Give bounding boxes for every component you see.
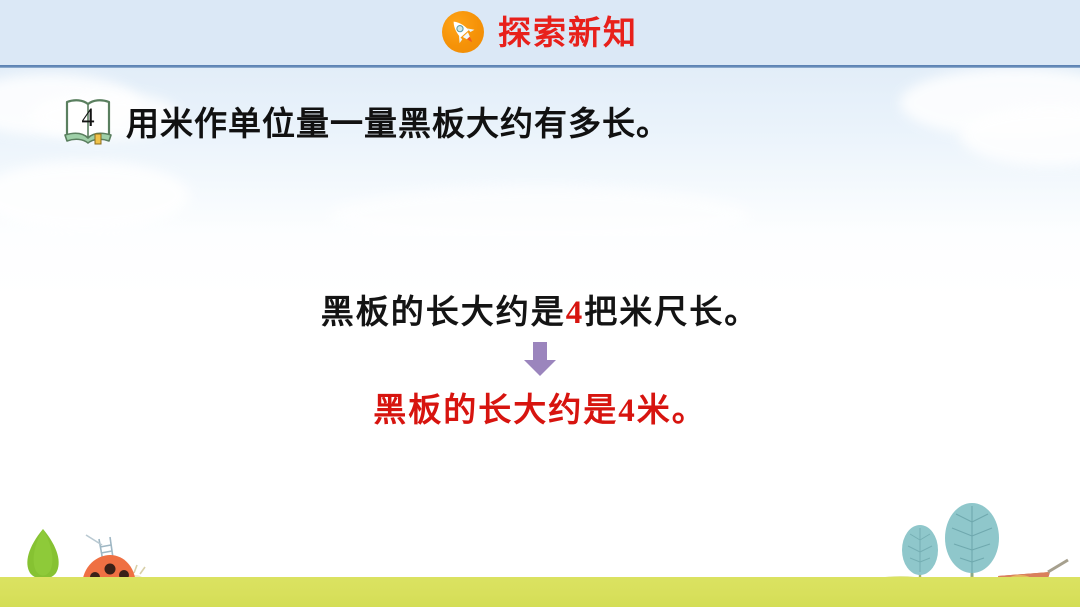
open-book-icon: 4 <box>62 96 114 146</box>
statement-line-2: 黑板的长大约是4米。 <box>0 383 1080 431</box>
arrow-container <box>0 339 1080 379</box>
question-row: 4 用米作单位量一量黑板大约有多长。 <box>62 96 670 146</box>
arrow-down-icon <box>520 340 560 378</box>
rocket-icon <box>442 11 484 53</box>
ground-strip <box>0 577 1080 607</box>
header-bar: 探索新知 <box>0 0 1080 67</box>
cloud-center <box>330 186 750 236</box>
cloud-left-3 <box>0 161 190 231</box>
slide-canvas: 探索新知 4 用米作单位量一量黑板大约有多长。 黑板的长大约是4把米尺长。 黑板… <box>0 0 1080 607</box>
question-number: 4 <box>62 98 114 138</box>
statement-line-1: 黑板的长大约是4把米尺长。 <box>0 285 1080 333</box>
statement-1-prefix: 黑板的长大约是 <box>321 295 566 331</box>
cloud-right-1 <box>900 68 1080 138</box>
cloud-layer <box>0 66 1080 236</box>
cloud-right-2 <box>960 106 1080 166</box>
header-content: 探索新知 <box>0 6 1080 58</box>
statement-block: 黑板的长大约是4把米尺长。 黑板的长大约是4米。 <box>0 285 1080 431</box>
page-title: 探索新知 <box>498 16 638 49</box>
statement-1-highlight: 4 <box>566 295 585 331</box>
question-text: 用米作单位量一量黑板大约有多长。 <box>126 97 670 145</box>
header-divider <box>0 65 1080 68</box>
statement-1-suffix: 把米尺长。 <box>584 295 759 331</box>
